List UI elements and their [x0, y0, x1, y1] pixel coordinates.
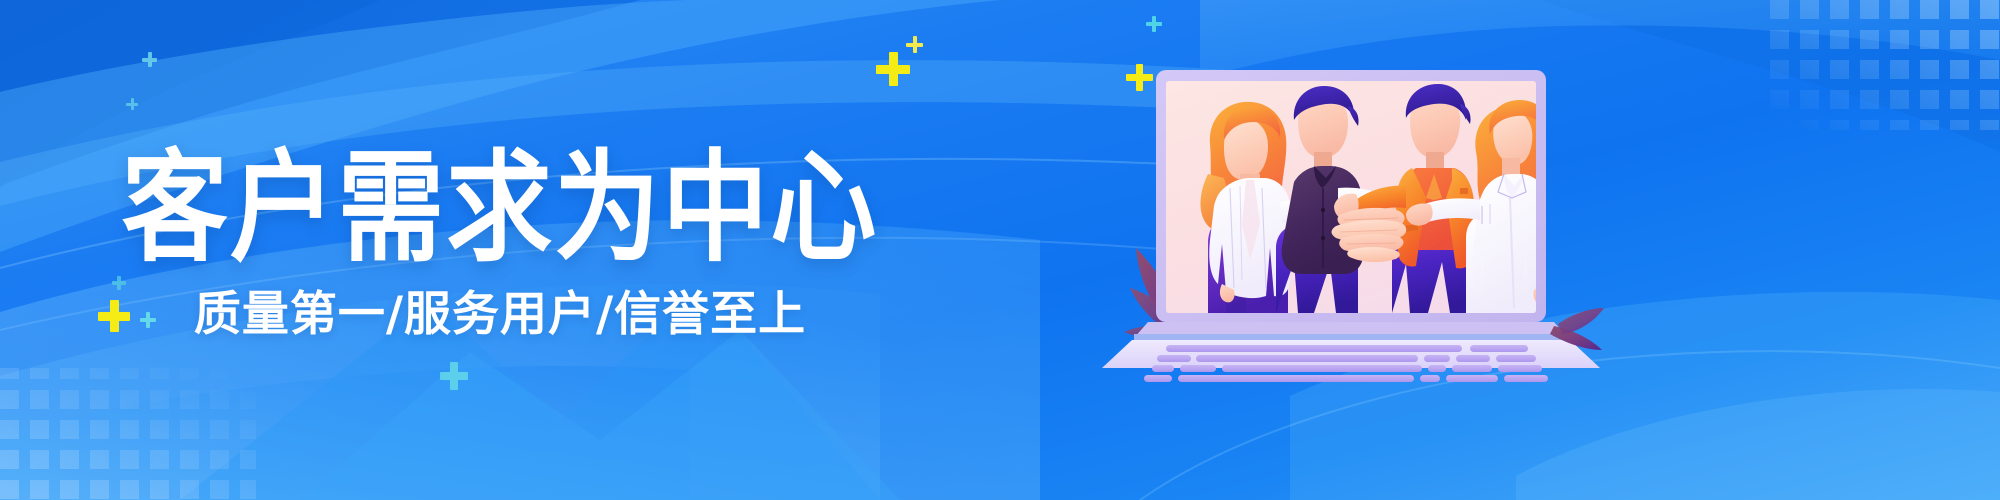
- marketing-banner: 客户需求为中心 质量第一/服务用户/信誉至上: [0, 0, 2000, 500]
- laptop-base: [1134, 322, 1568, 341]
- plus-icon-cyan-top-left: [142, 52, 157, 67]
- plus-icon-cyan-bottom-center: [440, 362, 468, 390]
- laptop-team-handshake-illustration: [1130, 48, 1600, 368]
- banner-text-block: 客户需求为中心 质量第一/服务用户/信誉至上: [0, 0, 1000, 500]
- plus-icon-yellow-large-left: [876, 52, 910, 86]
- plus-icon-yellow-bottom-left: [98, 300, 130, 332]
- plus-icon-cyan-left-mid: [126, 98, 138, 110]
- plus-icon-yellow-laptop-corner: [1126, 64, 1153, 91]
- plus-icon-cyan-bottom-left-small: [140, 312, 156, 328]
- plus-icon-cyan-bottom-left-tiny: [112, 276, 126, 290]
- plus-icon-cyan-top: [1146, 16, 1162, 32]
- banner-subheadline: 质量第一/服务用户/信誉至上: [194, 289, 806, 341]
- plus-icon-yellow-small-left: [906, 36, 923, 53]
- screen-content-team: [1166, 81, 1555, 314]
- banner-headline: 客户需求为中心: [122, 144, 879, 272]
